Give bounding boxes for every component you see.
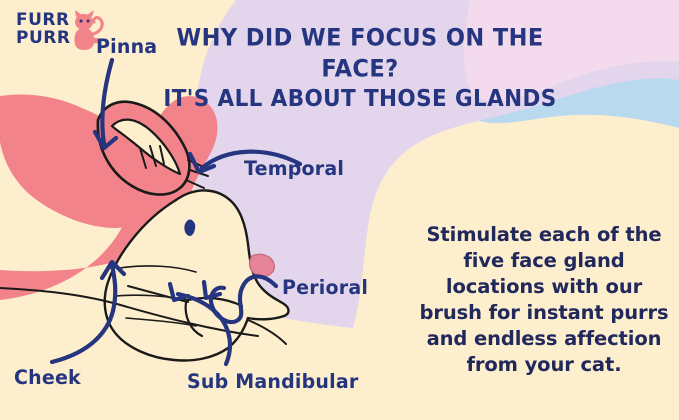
brand-logo[interactable]: FURR PURR xyxy=(16,11,106,53)
cat-nose xyxy=(250,254,275,276)
gland-label-sub-mandibular: Sub Mandibular xyxy=(187,371,358,394)
gland-label-cheek: Cheek xyxy=(14,367,81,390)
gland-label-perioral: Perioral xyxy=(282,277,368,300)
infographic-canvas: FURR PURR WHY DID WE FOCUS ON THE FACE? … xyxy=(0,0,679,420)
headline-line-2: IT'S ALL ABOUT THOSE GLANDS xyxy=(150,84,570,113)
headline-line-1: WHY DID WE FOCUS ON THE FACE? xyxy=(150,23,570,84)
gland-label-pinna: Pinna xyxy=(96,36,157,59)
page-title: WHY DID WE FOCUS ON THE FACE? IT'S ALL A… xyxy=(150,23,570,113)
gland-label-temporal: Temporal xyxy=(244,158,344,181)
body-copy: Stimulate each of the five face gland lo… xyxy=(418,222,670,378)
